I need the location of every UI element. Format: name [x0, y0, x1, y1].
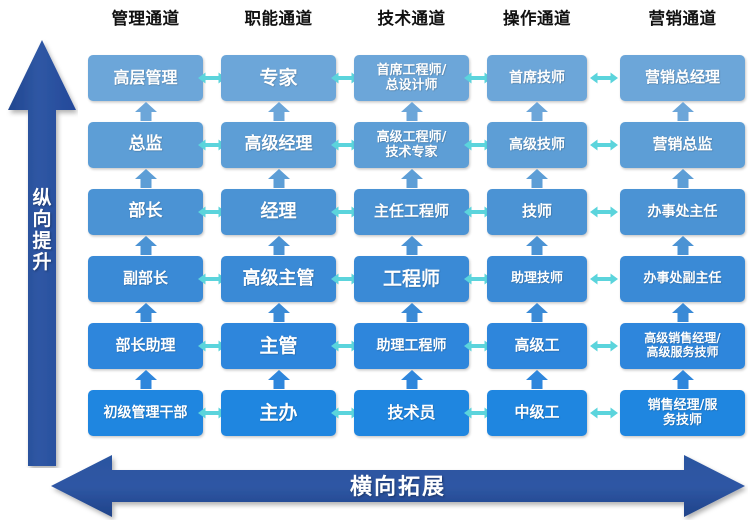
role-box-operations-level-4[interactable]: 技师	[487, 189, 587, 235]
role-box-line: 高级技师	[490, 137, 584, 153]
role-box-label: 首席工程师/总设计师	[357, 63, 466, 93]
role-box-technical-level-4[interactable]: 主任工程师	[354, 189, 469, 235]
role-box-operations-level-2[interactable]: 高级工	[487, 323, 587, 369]
role-box-line: 办事处副主任	[623, 271, 742, 286]
role-box-management-level-5[interactable]: 总监	[88, 122, 203, 168]
role-box-operations-level-5[interactable]: 高级技师	[487, 122, 587, 168]
up-arrow-icon	[267, 302, 291, 323]
role-box-label: 技师	[490, 203, 584, 220]
role-box-technical-level-5[interactable]: 高级工程师/技术专家	[354, 122, 469, 168]
role-box-label: 技术员	[357, 404, 466, 423]
role-box-technical-level-2[interactable]: 助理工程师	[354, 323, 469, 369]
role-box-label: 副部长	[91, 270, 200, 287]
up-arrow-icon	[671, 235, 695, 256]
role-box-line: 高层管理	[91, 69, 200, 88]
role-box-label: 主管	[224, 335, 333, 357]
up-arrow-icon	[134, 302, 158, 323]
role-box-line: 经理	[224, 202, 333, 223]
left-right-arrow-icon	[589, 406, 619, 420]
role-box-label: 总监	[91, 135, 200, 155]
role-box-label: 营销总经理	[623, 69, 742, 86]
role-box-management-level-6[interactable]: 高层管理	[88, 55, 203, 101]
role-box-functional-level-6[interactable]: 专家	[221, 55, 336, 101]
left-right-arrow-icon	[589, 339, 619, 353]
up-arrow-icon	[134, 369, 158, 390]
role-box-line: 部长助理	[91, 337, 200, 354]
role-box-marketing-level-1[interactable]: 销售经理/服务技师	[620, 390, 745, 436]
role-box-line: 主管	[224, 335, 333, 357]
role-box-line: 高级主管	[224, 269, 333, 290]
role-box-label: 专家	[224, 67, 333, 89]
role-box-label: 首席技师	[490, 70, 584, 86]
column-header-marketing: 营销通道	[620, 6, 745, 32]
column-header-technical: 技术通道	[354, 6, 469, 32]
career-path-diagram: 管理通道职能通道技术通道操作通道营销通道 纵 向 提 升	[0, 0, 750, 524]
left-right-arrow-icon	[589, 205, 619, 219]
role-box-line: 务技师	[623, 413, 742, 428]
column-header-management: 管理通道	[88, 6, 203, 32]
role-box-line: 技术员	[357, 404, 466, 423]
role-box-label: 高级主管	[224, 269, 333, 290]
role-box-label: 高级工程师/技术专家	[357, 130, 466, 160]
role-box-line: 总监	[91, 135, 200, 155]
role-box-label: 营销总监	[623, 136, 742, 153]
role-box-line: 初级管理干部	[91, 405, 200, 421]
role-box-line: 总设计师	[357, 78, 466, 93]
role-box-line: 营销总监	[623, 136, 742, 153]
up-arrow-icon	[525, 235, 549, 256]
role-box-line: 副部长	[91, 270, 200, 287]
role-box-line: 专家	[224, 67, 333, 89]
up-arrow-icon	[134, 168, 158, 189]
role-box-label: 主办	[224, 402, 333, 424]
role-box-line: 助理技师	[490, 271, 584, 286]
role-box-marketing-level-6[interactable]: 营销总经理	[620, 55, 745, 101]
role-box-functional-level-4[interactable]: 经理	[221, 189, 336, 235]
up-arrow-icon	[267, 101, 291, 122]
role-box-label: 销售经理/服务技师	[623, 398, 742, 428]
up-arrow-icon	[671, 168, 695, 189]
role-box-technical-level-3[interactable]: 工程师	[354, 256, 469, 302]
role-box-line: 技师	[490, 203, 584, 220]
up-arrow-icon	[671, 302, 695, 323]
role-box-technical-level-6[interactable]: 首席工程师/总设计师	[354, 55, 469, 101]
role-box-label: 经理	[224, 202, 333, 223]
up-arrow-icon	[134, 235, 158, 256]
up-arrow-icon	[267, 369, 291, 390]
role-box-operations-level-6[interactable]: 首席技师	[487, 55, 587, 101]
role-box-line: 高级经理	[224, 135, 333, 155]
role-box-line: 高级服务技师	[623, 346, 742, 360]
role-box-functional-level-2[interactable]: 主管	[221, 323, 336, 369]
role-box-line: 中级工	[490, 404, 584, 421]
up-arrow-icon	[267, 168, 291, 189]
role-box-line: 主任工程师	[357, 203, 466, 220]
role-box-line: 高级工	[490, 337, 584, 354]
role-box-label: 助理工程师	[357, 338, 466, 354]
role-box-marketing-level-4[interactable]: 办事处主任	[620, 189, 745, 235]
role-box-line: 主办	[224, 402, 333, 424]
role-box-technical-level-1[interactable]: 技术员	[354, 390, 469, 436]
role-box-management-level-3[interactable]: 副部长	[88, 256, 203, 302]
up-arrow-icon	[400, 168, 424, 189]
role-box-label: 工程师	[357, 268, 466, 290]
role-box-label: 助理技师	[490, 271, 584, 286]
role-box-line: 首席技师	[490, 70, 584, 86]
role-box-management-level-1[interactable]: 初级管理干部	[88, 390, 203, 436]
role-box-marketing-level-3[interactable]: 办事处副主任	[620, 256, 745, 302]
up-arrow-icon	[400, 235, 424, 256]
role-box-management-level-4[interactable]: 部长	[88, 189, 203, 235]
role-box-label: 主任工程师	[357, 203, 466, 220]
role-box-operations-level-3[interactable]: 助理技师	[487, 256, 587, 302]
role-box-management-level-2[interactable]: 部长助理	[88, 323, 203, 369]
left-right-arrow-icon	[589, 71, 619, 85]
up-arrow-icon	[671, 101, 695, 122]
role-box-label: 高层管理	[91, 69, 200, 88]
role-box-line: 工程师	[357, 268, 466, 290]
role-box-label: 高级销售经理/高级服务技师	[623, 332, 742, 360]
horizontal-expansion-arrow: 横向拓展	[48, 452, 748, 520]
role-box-functional-level-1[interactable]: 主办	[221, 390, 336, 436]
role-box-operations-level-1[interactable]: 中级工	[487, 390, 587, 436]
role-box-line: 营销总经理	[623, 69, 742, 86]
role-box-label: 高级技师	[490, 137, 584, 153]
column-header-operations: 操作通道	[487, 6, 587, 32]
up-arrow-icon	[267, 235, 291, 256]
role-box-line: 助理工程师	[357, 338, 466, 354]
up-arrow-icon	[525, 101, 549, 122]
role-box-label: 中级工	[490, 404, 584, 421]
column-header-functional: 职能通道	[221, 6, 336, 32]
role-box-label: 部长	[91, 202, 200, 222]
role-box-marketing-level-5[interactable]: 营销总监	[620, 122, 745, 168]
role-box-marketing-level-2[interactable]: 高级销售经理/高级服务技师	[620, 323, 745, 369]
up-arrow-icon	[400, 101, 424, 122]
role-box-line: 办事处主任	[623, 204, 742, 220]
up-arrow-icon	[525, 168, 549, 189]
role-box-label: 初级管理干部	[91, 405, 200, 421]
role-box-line: 部长	[91, 202, 200, 222]
role-box-label: 高级经理	[224, 135, 333, 155]
role-box-label: 办事处主任	[623, 204, 742, 220]
up-arrow-icon	[671, 369, 695, 390]
up-arrow-icon	[525, 369, 549, 390]
role-box-functional-level-3[interactable]: 高级主管	[221, 256, 336, 302]
up-arrow-icon	[525, 302, 549, 323]
left-right-arrow-icon	[589, 272, 619, 286]
role-box-label: 部长助理	[91, 337, 200, 354]
role-box-label: 高级工	[490, 337, 584, 354]
role-box-line: 首席工程师/	[357, 63, 466, 78]
role-box-line: 高级工程师/	[357, 130, 466, 145]
role-box-label: 办事处副主任	[623, 271, 742, 286]
up-arrow-icon	[400, 369, 424, 390]
vertical-promotion-arrow: 纵 向 提 升	[6, 38, 78, 468]
role-box-line: 销售经理/服	[623, 398, 742, 413]
up-arrow-icon	[400, 302, 424, 323]
left-right-arrow-icon	[589, 138, 619, 152]
role-box-line: 技术专家	[357, 145, 466, 160]
up-arrow-icon	[134, 101, 158, 122]
role-box-line: 高级销售经理/	[623, 332, 742, 346]
role-box-functional-level-5[interactable]: 高级经理	[221, 122, 336, 168]
